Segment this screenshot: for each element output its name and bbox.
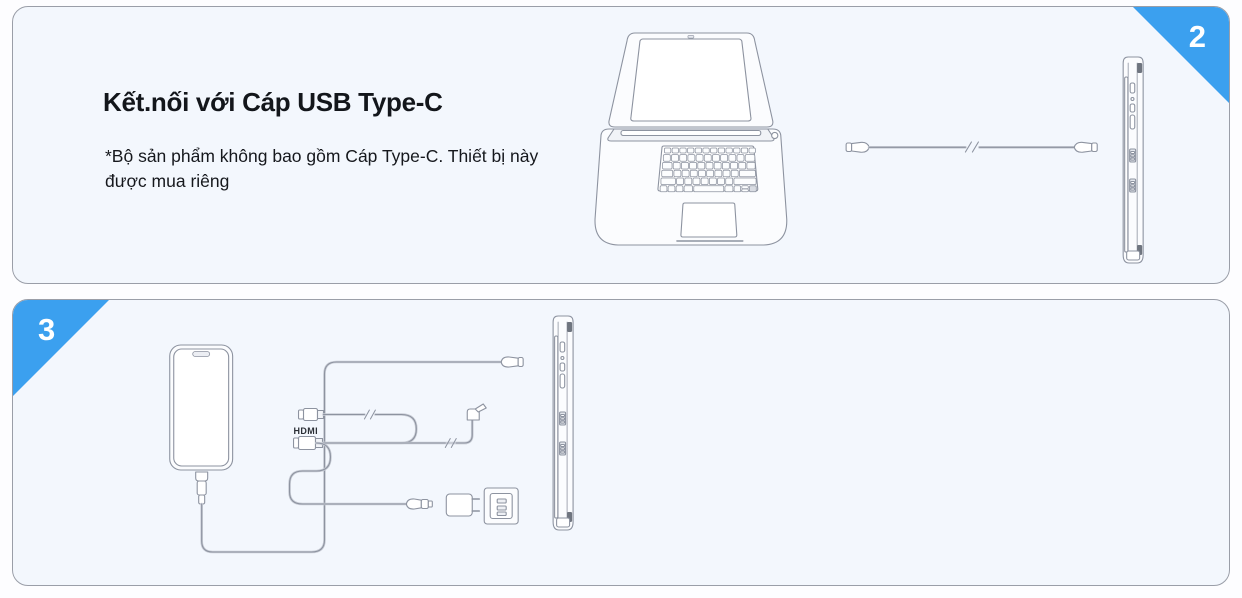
power-adapter [446,494,479,516]
step-2-headline: Kết.nối với Cáp USB Type-C [91,87,561,118]
hdmi-cable-upper [299,409,417,444]
badge-number: 2 [1189,21,1206,52]
badge-triangle-icon [1133,7,1229,103]
laptop-illustration [595,33,787,245]
usb-c-cable-illustration [846,142,1097,152]
portable-monitor-side-view-top [1123,57,1143,263]
hdmi-text: HDMI [294,426,319,436]
phone-usbc-cable [202,357,523,552]
step-2-subline: *Bộ sản phẩm không bao gồm Cáp Type-C. T… [91,144,561,195]
badge-triangle-icon [13,300,109,396]
portable-monitor-side-view-bottom [553,316,573,530]
middle-cable-to-monitor [322,404,486,448]
wall-outlet [484,488,518,524]
smartphone-illustration [170,345,233,504]
step-panel-3: 3 Kết nối Smartphone *Bộ sản phẩm không … [12,299,1230,586]
power-cable-lower [290,443,433,509]
step-badge-3: 3 [13,300,109,396]
badge-number: 3 [38,314,55,345]
step-3-illustration: HDMI [13,300,1229,585]
instruction-sheet: 2 Kết.nối với Cáp USB Type-C *Bộ sản phẩ… [0,0,1242,598]
step-panel-2: 2 Kết.nối với Cáp USB Type-C *Bộ sản phẩ… [12,6,1230,284]
step-2-text: Kết.nối với Cáp USB Type-C *Bộ sản phẩm … [91,87,561,195]
hdmi-connector: HDMI [294,426,323,450]
step-badge-2: 2 [1133,7,1229,103]
